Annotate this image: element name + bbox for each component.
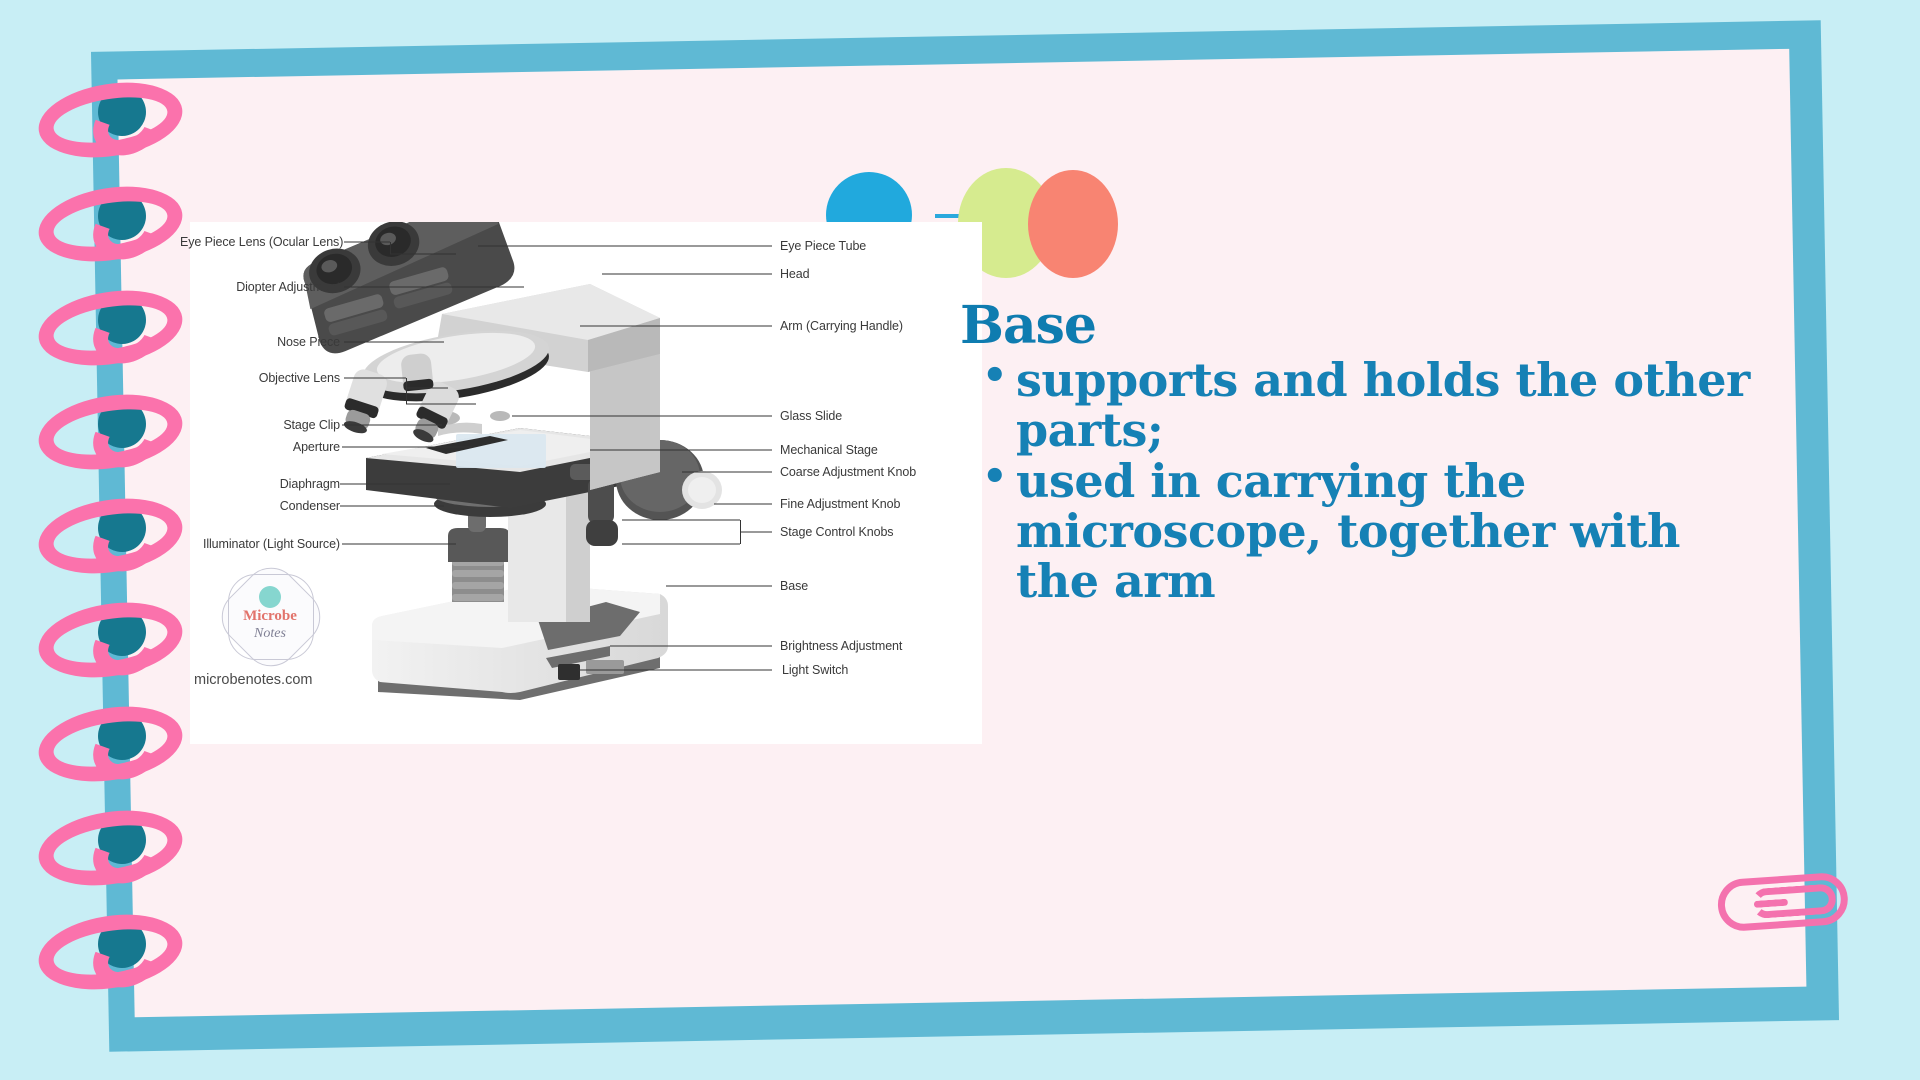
logo-word-notes: Notes [222,626,318,642]
diagram-label-nose-piece: Nose Piece [220,335,340,349]
leader-stage-control-knobs-b [622,544,740,545]
diagram-label-fine-adjustment-knob: Fine Adjustment Knob [780,497,980,511]
microscope-diagram: Eye Piece Lens (Ocular Lens) Diopter Adj… [190,222,982,744]
leader-stage-clip [342,425,442,426]
leader-condenser [340,506,444,507]
spiral-ring [38,708,183,786]
leader-diaphragm [340,484,450,485]
bullet-item-1: supports and holds the other parts; [1016,356,1750,455]
slide-canvas: Eye Piece Lens (Ocular Lens) Diopter Adj… [0,0,1920,1080]
diagram-label-arm: Arm (Carrying Handle) [780,319,980,333]
leader-objective-lens-b [406,404,476,405]
diagram-label-eye-piece-tube: Eye Piece Tube [780,239,960,253]
spiral-ring [38,292,183,370]
leader-stage-control-knobs [740,532,772,533]
leader-objective-lens-a [406,388,448,389]
diagram-label-eye-piece-lens: Eye Piece Lens (Ocular Lens) [180,235,340,249]
leader-eye-piece-tube [478,246,772,247]
diagram-label-aperture: Aperture [240,440,340,454]
diagram-label-coarse-adjustment-knob: Coarse Adjustment Knob [780,465,980,479]
leader-brightness-adjustment [610,646,772,647]
diagram-label-brightness-adjustment: Brightness Adjustment [780,639,980,653]
content-block: Base supports and holds the other parts;… [960,300,1750,608]
diagram-label-glass-slide: Glass Slide [780,409,960,423]
diagram-label-base: Base [780,579,900,593]
diagram-label-light-switch: Light Switch [782,663,942,677]
bullet-list: supports and holds the other parts; used… [960,356,1750,606]
leader-objective-lens-v [406,378,407,404]
microscope-diagram-card: Eye Piece Lens (Ocular Lens) Diopter Adj… [190,222,982,744]
spiral-ring [38,396,183,474]
spiral-ring [38,812,183,890]
diagram-label-stage-control-knobs: Stage Control Knobs [780,525,970,539]
spiral-ring [38,916,183,994]
leader-nose-piece [344,342,444,343]
diagram-label-mechanical-stage: Mechanical Stage [780,443,970,457]
leader-fine-knob [714,504,772,505]
leader-glass-slide [512,416,772,417]
diagram-label-condenser: Condenser [230,499,340,513]
diagram-label-diaphragm: Diaphragm [230,477,340,491]
leader-stage-control-knobs-a [622,520,740,521]
leader-light-switch [578,670,772,671]
leader-eye-piece-lens [344,242,390,243]
microbe-notes-logo: Microbe Notes [222,568,318,664]
leader-head [602,274,772,275]
bullet-item-2: used in carrying the microscope, togethe… [1016,457,1750,606]
logo-word-microbe: Microbe [222,608,318,625]
spiral-ring [38,188,183,266]
spiral-ring [38,604,183,682]
diagram-label-illuminator: Illuminator (Light Source) [158,537,340,551]
leader-objective-lens [344,378,406,379]
decor-blob-red [1028,170,1118,278]
leader-diopter-adjustment [344,287,524,288]
leader-base [666,586,772,587]
diagram-label-diopter-adjustment: Diopter Adjustment [200,280,340,294]
spiral-ring [38,84,183,162]
watermark-url: microbenotes.com [194,672,394,688]
diagram-label-head: Head [780,267,960,281]
diagram-label-stage-clip: Stage Clip [230,418,340,432]
leader-arm [580,326,772,327]
leader-mechanical-stage [590,450,772,451]
leader-illuminator [342,544,456,545]
page-title: Base [960,300,1750,352]
paperclip-icon [1716,872,1850,937]
leader-coarse-knob [682,472,772,473]
leader-eye-piece-lens-v [390,242,391,254]
logo-cell-icon [259,586,281,608]
leader-aperture [342,447,472,448]
diagram-label-objective-lens: Objective Lens [210,371,340,385]
leader-eye-piece-lens-2 [390,254,456,255]
